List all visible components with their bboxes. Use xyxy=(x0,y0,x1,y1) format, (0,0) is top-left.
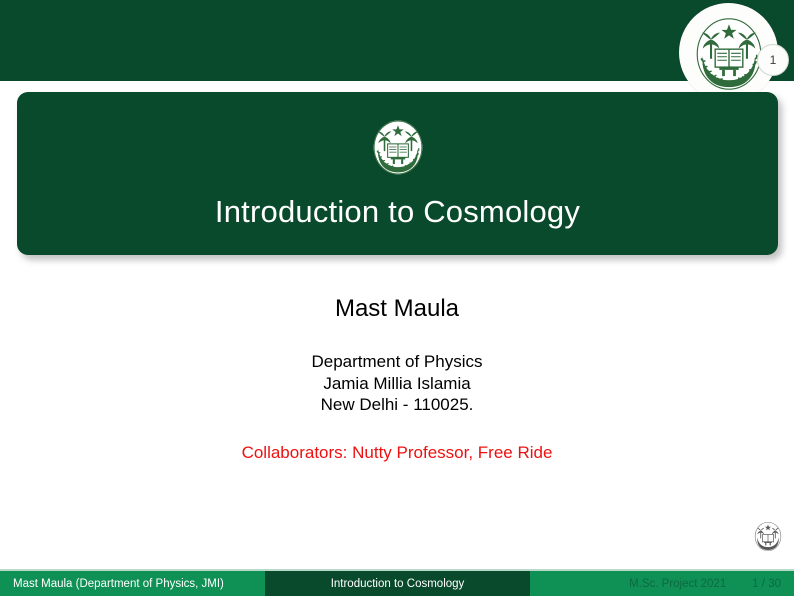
frame-number-label: 1 xyxy=(770,54,777,66)
footer-page-number: 1 / 30 xyxy=(752,578,781,590)
institute-line-address: New Delhi - 110025. xyxy=(0,394,794,416)
presentation-slide: 1 xyxy=(0,0,794,596)
footer-meta: M.Sc. Project 2021 1 / 30 xyxy=(530,571,794,596)
institute-line-university: Jamia Millia Islamia xyxy=(0,373,794,395)
institute-line-department: Department of Physics xyxy=(0,351,794,373)
collaborators-line: Collaborators: Nutty Professor, Free Rid… xyxy=(0,443,794,463)
slide-header-band xyxy=(0,0,794,81)
frame-number-badge[interactable]: 1 xyxy=(757,44,789,76)
slide-footer: Mast Maula (Department of Physics, JMI) … xyxy=(0,571,794,596)
footer-author: Mast Maula (Department of Physics, JMI) xyxy=(0,571,265,596)
institute-block: Department of Physics Jamia Millia Islam… xyxy=(0,351,794,416)
footer-title: Introduction to Cosmology xyxy=(265,571,530,596)
jamia-millia-islamia-emblem-icon xyxy=(691,16,767,92)
jamia-millia-islamia-emblem-icon xyxy=(754,521,782,552)
title-box: Introduction to Cosmology xyxy=(17,92,778,255)
author-name: Mast Maula xyxy=(0,295,794,323)
footer-project-label: M.Sc. Project 2021 xyxy=(629,578,726,590)
page-title: Introduction to Cosmology xyxy=(215,194,580,230)
jamia-millia-islamia-emblem-icon xyxy=(372,119,424,176)
